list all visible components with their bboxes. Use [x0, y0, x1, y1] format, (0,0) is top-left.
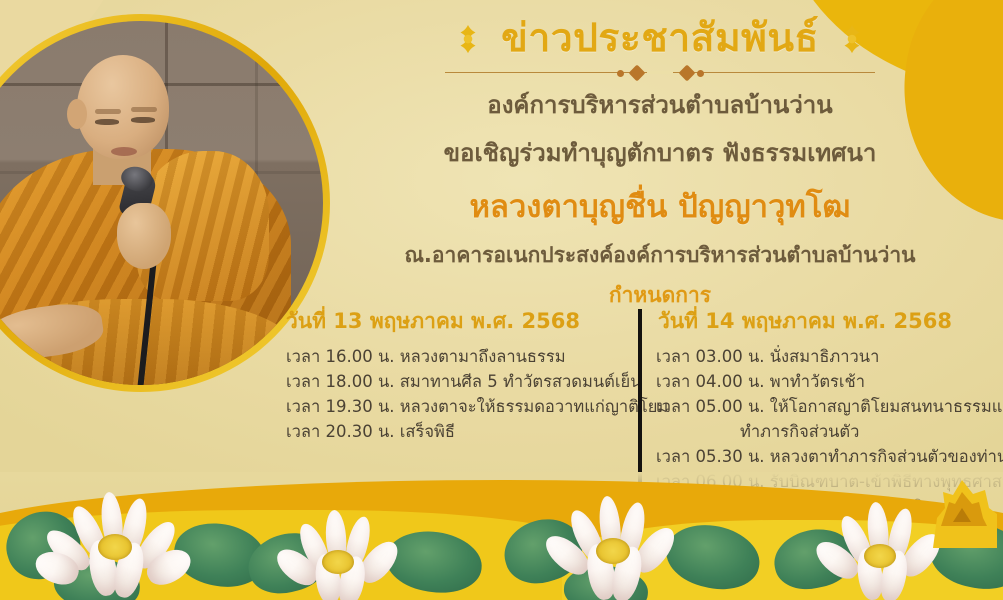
poster-root: ข่าวประชาสัมพันธ์ องค์การบริหารส่วนตำบลบ…	[0, 0, 1003, 600]
item-text: หลวงตามาถึงลานธรรม	[400, 347, 566, 366]
item-text: เสร็จพิธี	[400, 422, 455, 441]
item-time: เวลา 03.00 น.	[656, 347, 765, 366]
item-text: นั่งสมาธิภาวนา	[770, 347, 880, 366]
item-time: เวลา 16.00 น.	[286, 347, 395, 366]
schedule-item: เวลา 18.00 น. สมาทานศีล 5 ทำวัตรสวดมนต์เ…	[286, 369, 618, 394]
day2-heading: วันที่ 14 พฤษภาคม พ.ศ. 2568	[656, 305, 986, 338]
venue-text: ณ.อาคารอเนกประสงค์องค์การบริหารส่วนตำบลบ…	[330, 239, 990, 272]
organization-name: องค์การบริหารส่วนตำบลบ้านว่าน	[330, 85, 990, 124]
day1-heading: วันที่ 13 พฤษภาคม พ.ศ. 2568	[286, 305, 618, 338]
title-row: ข่าวประชาสัมพันธ์	[330, 18, 990, 61]
invitation-text: ขอเชิญร่วมทำบุญตักบาตร ฟังธรรมเทศนา	[330, 133, 990, 172]
lotus-flower	[548, 500, 748, 600]
header-block: ข่าวประชาสัมพันธ์ องค์การบริหารส่วนตำบลบ…	[330, 18, 990, 312]
schedule-item: เวลา 16.00 น. หลวงตามาถึงลานธรรม	[286, 344, 618, 369]
monk-photo-ring	[0, 14, 330, 392]
monk-photo	[0, 21, 323, 385]
item-time: เวลา 05.00 น.	[656, 397, 765, 416]
flower-ornament-left-icon	[453, 24, 483, 54]
lotus-flower	[278, 510, 468, 600]
title-divider	[445, 65, 875, 79]
thai-temple-ornament-icon	[927, 478, 997, 548]
schedule-item: เวลา 03.00 น. นั่งสมาธิภาวนา	[656, 344, 986, 369]
page-title: ข่าวประชาสัมพันธ์	[501, 18, 819, 61]
item-time: เวลา 05.30 น.	[656, 447, 765, 466]
monk-hand	[117, 203, 171, 269]
item-time: เวลา 04.00 น.	[656, 372, 765, 391]
item-time: เวลา 20.30 น.	[286, 422, 395, 441]
schedule-item: เวลา 05.30 น. หลวงตาทำภารกิจส่วนตัวของท่…	[656, 444, 986, 469]
schedule-item: เวลา 04.00 น. พาทำวัตรเช้า	[656, 369, 986, 394]
flower-ornament-right-icon	[837, 24, 867, 54]
schedule-item: เวลา 05.00 น. ให้โอกาสญาติโยมสนทนาธรรมแล…	[656, 394, 986, 444]
item-text-continued: ทำภารกิจส่วนตัว	[656, 419, 986, 444]
item-text: พาทำวัตรเช้า	[770, 372, 865, 391]
item-text: หลวงตาจะให้ธรรมดอวาทแก่ญาติโยม	[400, 397, 669, 416]
item-text: หลวงตาทำภารกิจส่วนตัวของท่าน	[770, 447, 1003, 466]
item-text: สมาทานศีล 5 ทำวัตรสวดมนต์เย็น	[400, 372, 642, 391]
schedule-item: เวลา 19.30 น. หลวงตาจะให้ธรรมดอวาทแก่ญาต…	[286, 394, 618, 419]
item-text: ให้โอกาสญาติโยมสนทนาธรรมและ	[770, 397, 1003, 416]
schedule-item: เวลา 20.30 น. เสร็จพิธี	[286, 419, 618, 444]
monk-name: หลวงตาบุญชื่น ปัญญาวุทโฒ	[330, 181, 990, 231]
item-time: เวลา 19.30 น.	[286, 397, 395, 416]
lotus-flower	[48, 496, 258, 600]
item-time: เวลา 18.00 น.	[286, 372, 395, 391]
